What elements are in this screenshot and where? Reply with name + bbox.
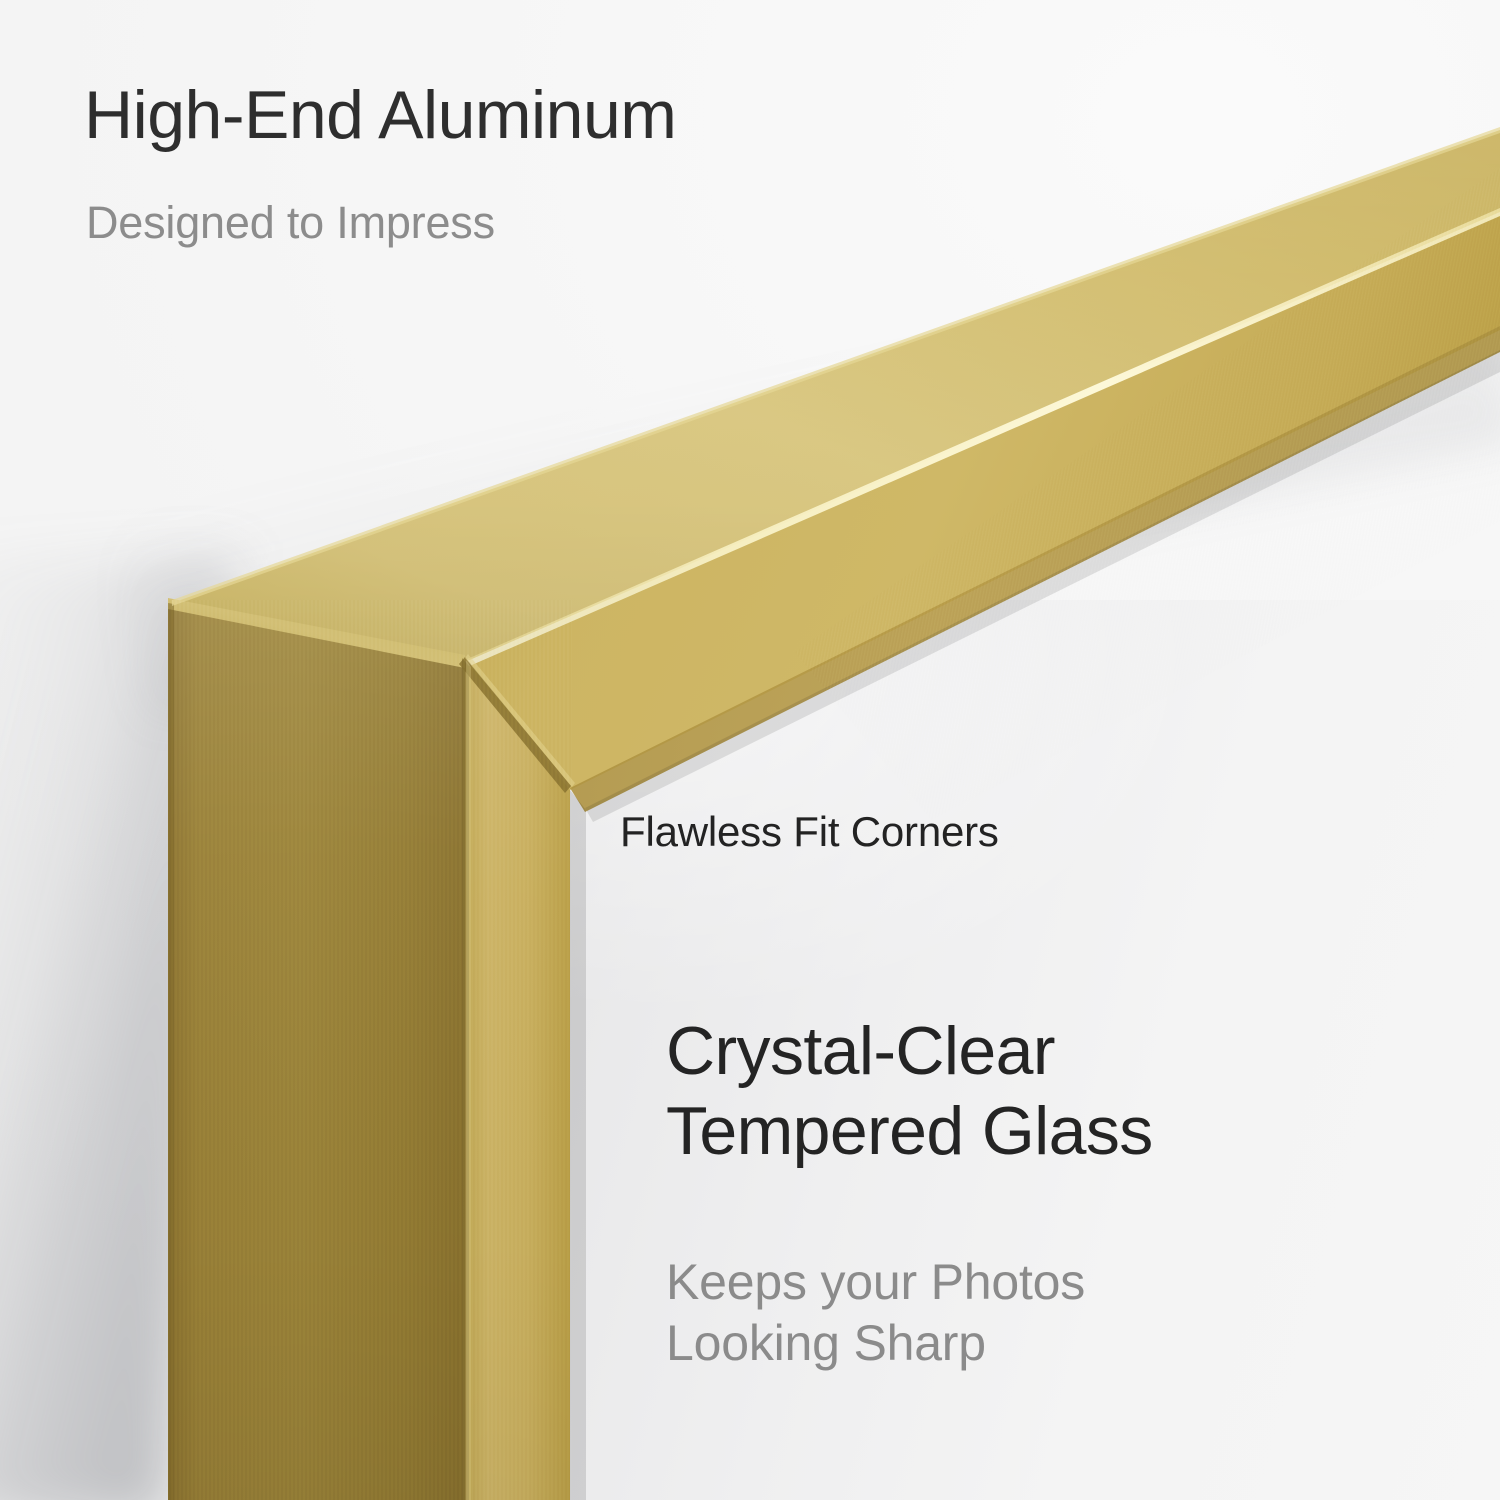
- callout-glass-label: Crystal-Clear Tempered Glass: [666, 1012, 1153, 1171]
- product-feature-image: High-End Aluminum Designed to Impress Fl…: [0, 0, 1500, 1500]
- callout-corners-label: Flawless Fit Corners: [620, 808, 999, 856]
- callout-glass-caption: Keeps your Photos Looking Sharp: [666, 1252, 1085, 1374]
- frame-inner-shadow-left: [570, 790, 586, 1500]
- page-subtitle: Designed to Impress: [86, 197, 495, 249]
- page-title: High-End Aluminum: [84, 76, 676, 154]
- frame-outer-left-edge: [168, 603, 174, 1500]
